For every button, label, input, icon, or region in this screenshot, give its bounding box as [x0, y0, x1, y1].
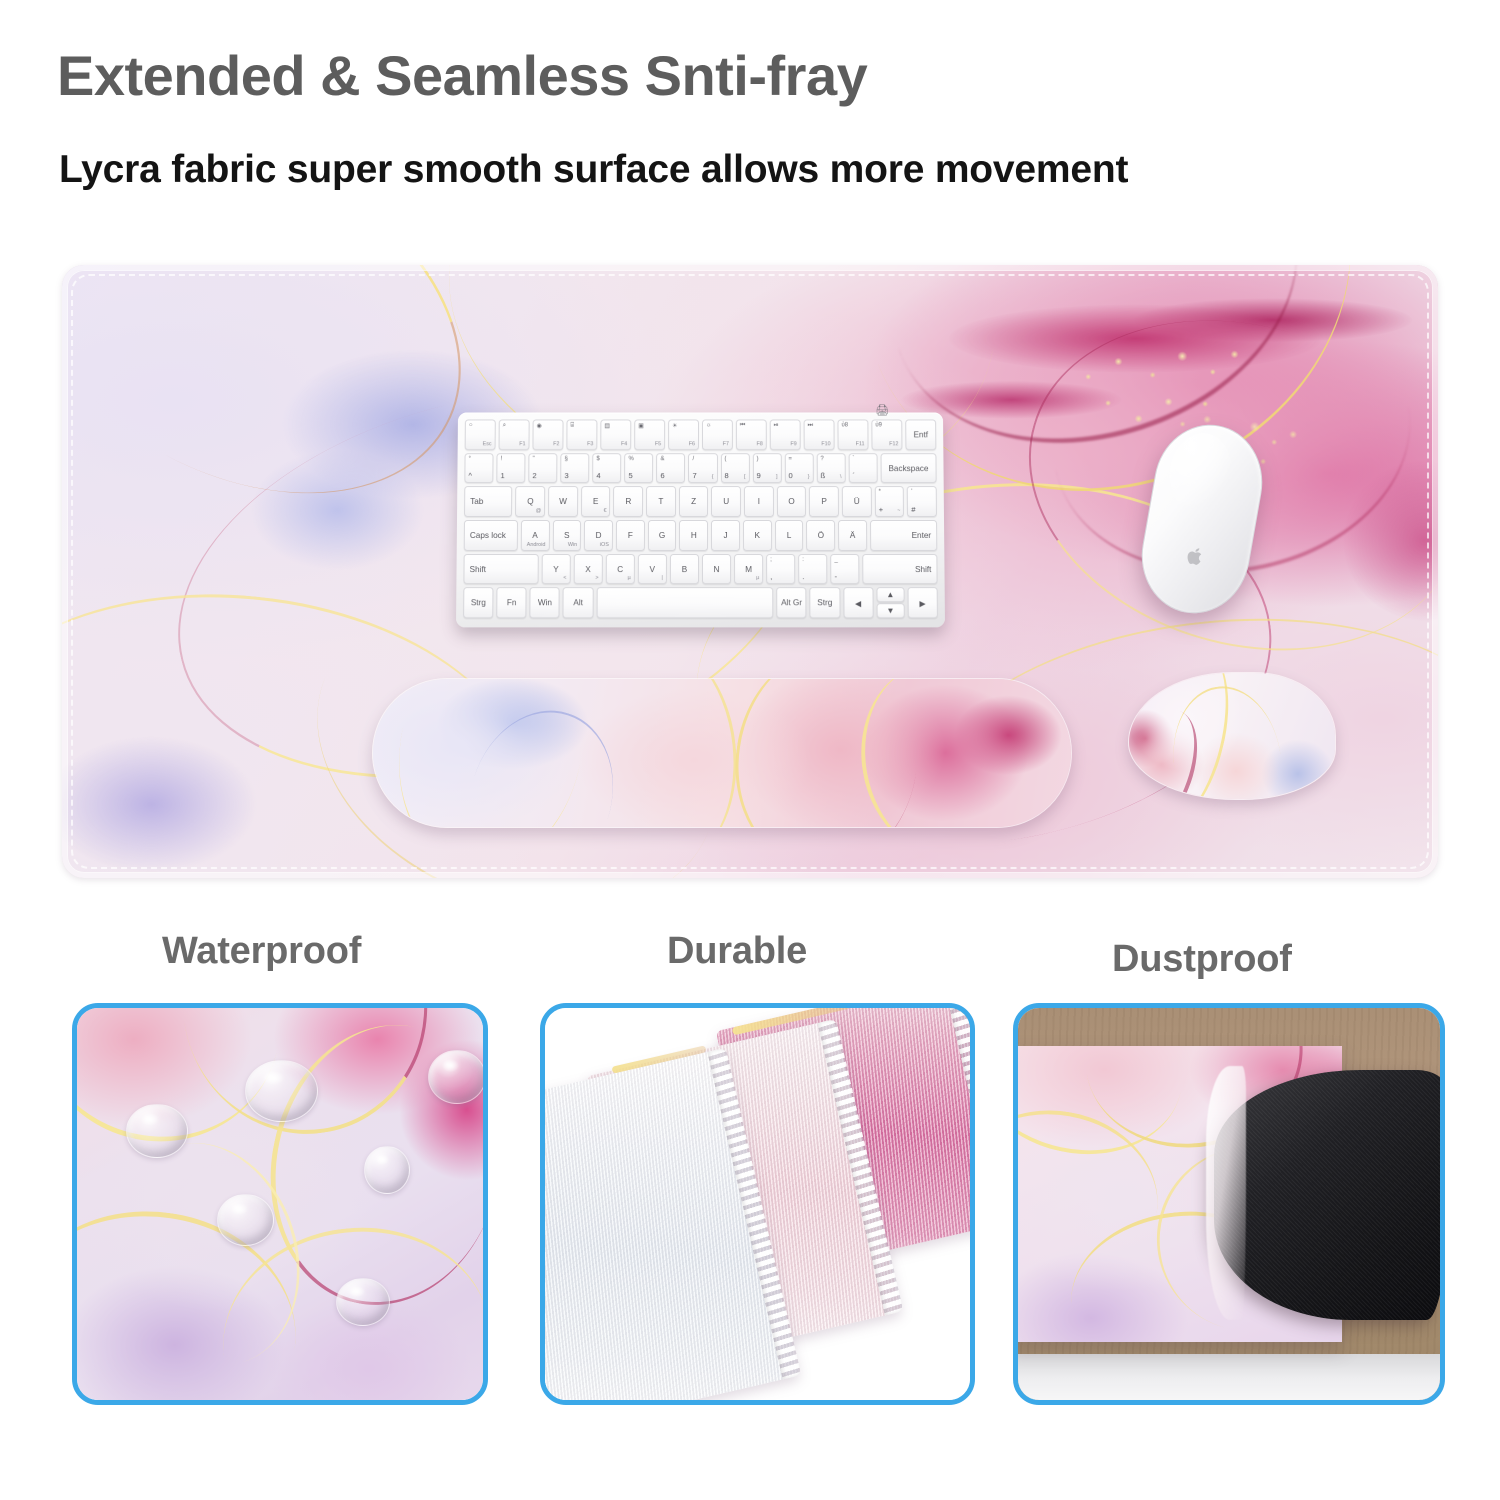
key-label: Ö [818, 531, 824, 540]
key-label-top-left: ⌸ [570, 422, 574, 429]
key-label-top-left: ▣ [638, 422, 644, 429]
key-label: A [532, 531, 538, 540]
key-label: Caps lock [470, 531, 506, 540]
key-label-top-left: = [788, 456, 792, 462]
shift-row: ShiftY<X>CµV|BNMµ;,:._-Shift [463, 554, 937, 585]
key-blank[interactable]: ⏮F8 [736, 419, 767, 449]
modifier-row: StrgFnWinAltAlt GrStrg◀▲▼▶ [463, 587, 938, 618]
key-label: Tab [470, 497, 483, 506]
key-label-bottom-left: 7 [692, 471, 696, 480]
key-label: S [564, 531, 570, 540]
key-label-bottom-right: iOS [600, 542, 609, 548]
key-label: Q [527, 497, 533, 506]
key-caps-lock[interactable]: Caps lock [464, 520, 518, 551]
key-label-bottom-right: € [603, 508, 606, 514]
function-row: ○Esc⌕F1◉F2⌸F3▤F4▣F5☀F6☼F7⏮F8⏯F9⏭F10ὐ8F11… [465, 419, 937, 449]
key-label-bottom-left: ´ [852, 471, 855, 480]
fold-highlight-edge [1206, 1066, 1246, 1320]
key-label-bottom-left: 5 [628, 471, 632, 480]
key-label-bottom-right: F12 [889, 441, 898, 447]
key-e[interactable]: E€ [581, 486, 611, 517]
key-label: Shift [915, 565, 932, 574]
key-alt-gr[interactable]: Alt Gr [776, 587, 806, 618]
key-label-bottom-left: 0 [788, 471, 792, 480]
key-label-bottom-right: | [661, 575, 662, 581]
key-label-top-left: ⏯ [774, 422, 779, 429]
number-row: °^!1"2§3$4%5&6/7{(8[)9]=0}?ß\`´Backspace [464, 453, 936, 484]
key-label: U [723, 497, 729, 506]
key-blank[interactable]: ⌸F3 [566, 419, 597, 449]
key-label: J [724, 531, 728, 540]
key-label: M [745, 565, 752, 574]
key-label: D [596, 531, 602, 540]
key-label-bottom-right: Win [568, 542, 577, 548]
home-row: Caps lockAAndroidSWinDiOSFGHJKLÖÄEnter [464, 520, 938, 551]
key-s[interactable]: SWin [552, 520, 581, 551]
key-w[interactable]: W [548, 486, 578, 517]
qwertz-row: TabQ@WE€RTZUIOPÜ*+~'# [464, 486, 937, 517]
folded-rubber-underside [1214, 1070, 1445, 1320]
key-blank[interactable]: °^ [464, 453, 493, 484]
key-3[interactable]: §3 [560, 453, 589, 484]
key-label: I [758, 497, 760, 506]
key-label-bottom-left: 2 [532, 471, 536, 480]
key-label: Z [691, 497, 696, 506]
key-label-top-left: ὐ8 [841, 422, 848, 428]
key-label-bottom-right: ~ [897, 508, 900, 514]
printer-icon: 🖨 [875, 404, 889, 417]
key-label-top-left: ◉ [537, 422, 542, 429]
key-label-bottom-left: 4 [596, 471, 600, 480]
key-blank[interactable]: ☼F7 [702, 419, 733, 449]
key-h[interactable]: H [679, 520, 708, 551]
key-m[interactable]: Mµ [734, 554, 763, 585]
key-blank[interactable]: ○Esc [465, 419, 496, 449]
key-label: ▲ [886, 590, 894, 599]
key-label: G [659, 531, 665, 540]
key-blank[interactable]: ▤F4 [600, 419, 631, 449]
key-blank[interactable]: ⏭F10 [804, 419, 835, 449]
key-g[interactable]: G [648, 520, 677, 551]
key-enter[interactable]: Enter [870, 520, 937, 551]
key-strg[interactable]: Strg [810, 587, 840, 618]
key-shift[interactable]: Shift [863, 554, 938, 585]
key-d[interactable]: DiOS [584, 520, 613, 551]
key-label-top-left: & [660, 456, 664, 462]
key-label-top-left: ) [756, 456, 758, 462]
key-label-top-left: " [533, 456, 535, 462]
key-blank[interactable]: ?ß\ [816, 453, 845, 484]
keyboard-rows: ○Esc⌕F1◉F2⌸F3▤F4▣F5☀F6☼F7⏮F8⏯F9⏭F10ὐ8F11… [463, 419, 938, 618]
mouse-wrist-rest [1128, 672, 1336, 800]
key-7[interactable]: /7{ [688, 453, 717, 484]
key-blank[interactable]: '# [907, 486, 937, 517]
key-label-bottom-right: Esc [483, 441, 492, 447]
key-blank[interactable]: Ü [842, 486, 872, 517]
key-label: R [625, 497, 631, 506]
key-blank[interactable]: :. [798, 554, 827, 585]
key-arrow-down[interactable]: ▼ [876, 604, 904, 619]
key-9[interactable]: )9] [752, 453, 781, 484]
water-droplet [126, 1104, 188, 1158]
key-label: X [585, 565, 591, 574]
key-label-bottom-right: F2 [553, 441, 559, 447]
key-label-top-left: ; [770, 557, 772, 563]
key-t[interactable]: T [646, 486, 676, 517]
key-i[interactable]: I [744, 486, 774, 517]
key-label-bottom-right: [ [744, 474, 746, 480]
key-6[interactable]: &6 [656, 453, 685, 484]
key-blank[interactable]: ▶ [907, 587, 938, 618]
key-j[interactable]: J [711, 520, 740, 551]
key-strg[interactable]: Strg [463, 587, 494, 618]
key-label-top-left: ὐ9 [875, 422, 882, 428]
key-label-bottom-left: + [879, 505, 883, 514]
key-label: P [821, 497, 827, 506]
key-win[interactable]: Win [530, 587, 560, 618]
key-b[interactable]: B [670, 554, 699, 585]
key-label-top-left: * [878, 489, 880, 495]
product-infographic: Extended & Seamless Snti-fray Lycra fabr… [0, 0, 1500, 1500]
durable-image [545, 1008, 970, 1400]
key-blank[interactable]: ◉F2 [532, 419, 563, 449]
feature-panel-durable [540, 1003, 975, 1405]
key-blank[interactable]: _- [830, 554, 859, 585]
key-blank[interactable]: ▣F5 [634, 419, 665, 449]
key-label-top-left: ▤ [604, 422, 610, 429]
key-label-bottom-left: ß [820, 471, 825, 480]
key-label-bottom-right: } [808, 474, 810, 480]
key-blank[interactable]: *+~ [874, 486, 904, 517]
key-blank[interactable]: ⌕F1 [499, 419, 530, 449]
key-label-bottom-left: - [835, 572, 838, 581]
key-0[interactable]: =0} [784, 453, 813, 484]
key-blank[interactable]: Ö [806, 520, 835, 551]
key-label-top-left: ⌕ [503, 422, 506, 429]
key-label-bottom-left: # [911, 505, 915, 514]
key-label: Shift [470, 565, 487, 574]
key-u[interactable]: U [711, 486, 741, 517]
key-label: ◀ [855, 598, 861, 608]
key-l[interactable]: L [775, 520, 804, 551]
key-label-top-left: ☼ [706, 422, 711, 428]
key-label: Alt Gr [781, 598, 802, 607]
key-blank[interactable]: `´ [848, 453, 877, 484]
key-label: Alt [573, 598, 583, 607]
key-label-top-left: ° [469, 456, 471, 462]
key-label: Enter [912, 531, 932, 540]
key-label: Ü [854, 497, 860, 506]
waterproof-image [77, 1008, 483, 1400]
feature-label-waterproof: Waterproof [162, 932, 361, 970]
key-label-bottom-right: µ [756, 575, 759, 581]
key-label-bottom-right: > [595, 575, 598, 581]
key-label: ▶ [919, 598, 925, 608]
key-label: E [593, 497, 599, 506]
key-label-top-left: ○ [469, 422, 473, 428]
key-label: ▼ [886, 606, 894, 615]
feature-label-durable: Durable [667, 932, 807, 970]
key-label-bottom-right: F7 [723, 441, 729, 447]
key-n[interactable]: N [702, 554, 731, 585]
key-label: K [755, 531, 760, 540]
feature-panel-dustproof [1013, 1003, 1445, 1405]
key-o[interactable]: O [777, 486, 807, 517]
key-2[interactable]: "2 [528, 453, 557, 484]
key-y[interactable]: Y< [541, 554, 570, 585]
key-label: W [559, 497, 567, 506]
key-backspace[interactable]: Backspace [880, 453, 936, 484]
key-label-bottom-right: < [563, 575, 566, 581]
arrow-key-stack[interactable]: ▲▼ [876, 587, 904, 618]
key-label: F [628, 531, 633, 540]
key-a[interactable]: AAndroid [521, 520, 550, 551]
wrist-rest-marble [1129, 673, 1335, 799]
key-label: Ä [850, 531, 856, 540]
key-label: H [691, 531, 697, 540]
key-label-bottom-left: 9 [756, 471, 760, 480]
key-label: L [787, 531, 792, 540]
key-label: C [617, 565, 623, 574]
key-blank[interactable]: ◀ [843, 587, 873, 618]
key-label-bottom-right: F8 [757, 441, 763, 447]
key-label-bottom-right: F9 [790, 441, 796, 447]
key-label-bottom-right: Android [527, 542, 546, 548]
key-fn[interactable]: Fn [496, 587, 526, 618]
key-tab[interactable]: Tab [464, 486, 513, 517]
wrist-rest-marble [373, 679, 1071, 827]
key-label-top-left: ` [852, 456, 854, 462]
key-blank[interactable]: Ä [838, 520, 867, 551]
key-label-top-left: / [692, 456, 694, 462]
key-blank[interactable] [596, 587, 773, 618]
key-z[interactable]: Z [679, 486, 709, 517]
key-8[interactable]: (8[ [720, 453, 749, 484]
key-p[interactable]: P [809, 486, 839, 517]
key-label-top-left: ' [911, 489, 912, 495]
key-label-bottom-right: ] [776, 474, 778, 480]
key-blank[interactable]: ☀F6 [668, 419, 699, 449]
page-subtitle: Lycra fabric super smooth surface allows… [59, 150, 1128, 189]
keyboard: 🖨 ○Esc⌕F1◉F2⌸F3▤F4▣F5☀F6☼F7⏮F8⏯F9⏭F10ὐ8F… [456, 413, 945, 628]
key-blank[interactable]: ;, [766, 554, 795, 585]
key-label: Win [538, 598, 552, 607]
key-5[interactable]: %5 [624, 453, 653, 484]
key-label-top-left: % [628, 456, 633, 462]
key-label-bottom-right: F11 [856, 441, 865, 447]
key-9[interactable]: ὐ9F12 [871, 419, 902, 449]
key-label: Y [553, 565, 559, 574]
key-label-top-left: _ [834, 557, 837, 563]
key-arrow-up[interactable]: ▲ [876, 587, 904, 602]
key-label: V [650, 565, 655, 574]
key-label-bottom-right: \ [840, 474, 842, 480]
key-label: Entf [913, 430, 928, 439]
dustproof-image [1018, 1008, 1440, 1400]
key-r[interactable]: R [613, 486, 643, 517]
key-label-bottom-right: µ [628, 575, 631, 581]
key-label: Strg [471, 598, 486, 607]
key-label-bottom-left: , [770, 572, 772, 581]
key-label-bottom-left: . [802, 572, 804, 581]
key-label-bottom-left: 1 [500, 471, 504, 480]
floor-strip [1018, 1354, 1440, 1400]
apple-logo-icon [1185, 545, 1205, 568]
key-label-top-left: ⏮ [740, 422, 745, 429]
key-label-bottom-right: F4 [621, 441, 627, 447]
key-label-bottom-left: 6 [660, 471, 664, 480]
key-1[interactable]: !1 [496, 453, 525, 484]
key-label-bottom-left: 3 [564, 471, 568, 480]
key-label-bottom-right: { [712, 474, 714, 480]
key-c[interactable]: Cµ [606, 554, 635, 585]
key-label-top-left: ! [501, 456, 503, 462]
key-label: Strg [817, 598, 832, 607]
key-label-bottom-right: F10 [821, 441, 830, 447]
key-entf[interactable]: Entf [905, 419, 936, 449]
key-alt[interactable]: Alt [563, 587, 593, 618]
key-label-bottom-left: ^ [468, 471, 472, 480]
keyboard-wrist-rest [372, 678, 1072, 828]
key-label-bottom-left: 8 [724, 471, 728, 480]
key-label-bottom-right: F3 [587, 441, 593, 447]
key-4[interactable]: $4 [592, 453, 621, 484]
key-label-top-left: ? [820, 456, 823, 462]
key-f[interactable]: F [616, 520, 645, 551]
key-v[interactable]: V| [638, 554, 667, 585]
water-droplet [217, 1194, 274, 1246]
key-label: Backspace [888, 464, 928, 473]
key-8[interactable]: ὐ8F11 [837, 419, 868, 449]
key-label: Fn [507, 598, 517, 607]
key-label-bottom-right: @ [536, 508, 542, 514]
key-label: N [714, 565, 720, 574]
key-label-top-left: $ [596, 456, 599, 462]
water-droplet [364, 1146, 410, 1194]
key-label-top-left: § [564, 456, 567, 462]
feature-label-dustproof: Dustproof [1112, 940, 1292, 978]
key-label-bottom-right: F1 [519, 441, 525, 447]
key-label: T [658, 497, 663, 506]
key-blank[interactable]: ⏯F9 [770, 419, 801, 449]
key-label-top-left: ⏭ [808, 422, 813, 429]
key-label-bottom-right: F5 [655, 441, 661, 447]
water-droplet [336, 1278, 390, 1326]
key-label: B [682, 565, 687, 574]
key-label-top-left: ☀ [672, 422, 677, 429]
water-droplet [245, 1060, 318, 1122]
key-q[interactable]: Q@ [516, 486, 546, 517]
key-shift[interactable]: Shift [463, 554, 538, 585]
key-x[interactable]: X> [573, 554, 602, 585]
key-label-bottom-right: F6 [689, 441, 695, 447]
key-label-top-left: : [802, 557, 804, 563]
page-title: Extended & Seamless Snti-fray [57, 48, 867, 104]
key-k[interactable]: K [743, 520, 772, 551]
key-label-top-left: ( [724, 456, 726, 462]
water-droplet [428, 1050, 486, 1104]
feature-panel-waterproof [72, 1003, 488, 1405]
key-label: O [788, 497, 794, 506]
